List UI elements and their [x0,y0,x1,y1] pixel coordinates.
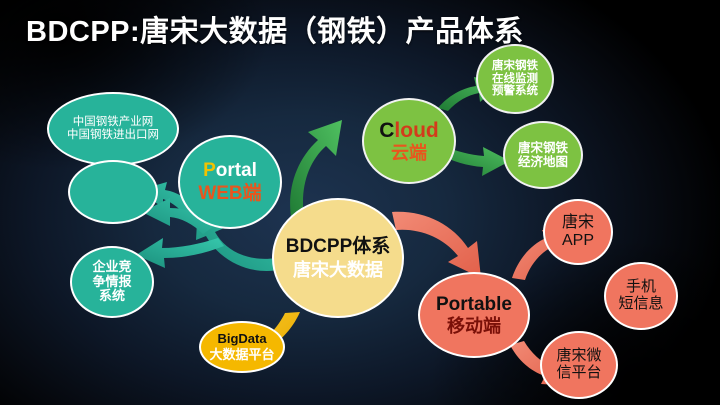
node-tangsong-wechat[interactable]: 唐宋微 信平台 [540,331,618,399]
node-steel-online-monitor[interactable]: 唐宋钢铁 在线监测 预警系统 [476,44,554,114]
node-mobile-sms[interactable]: 手机 短信息 [604,262,678,330]
node-portable-line1: Portable [436,294,512,315]
node-cloud1-line2: 在线监测 [492,73,538,86]
node-portal-line2: WEB端 [198,183,261,204]
node-steel-economic-map[interactable]: 唐宋钢铁 经济地图 [503,121,583,189]
node-portal-hub[interactable]: Portal WEB端 [178,135,282,229]
node-mob1-line2: APP [562,232,594,250]
node-web3-line3: 系统 [99,289,125,304]
arrow-center-to-portable [392,212,481,278]
node-cloud-line1: Cloud [379,119,439,143]
node-web3-line2: 争情报 [92,275,131,290]
node-web3-line1: 企业竞 [92,260,131,275]
node-web1-line1: 中国钢铁产业网 [73,116,154,129]
node-blank-node[interactable] [68,160,158,224]
node-portable-hub[interactable]: Portable 移动端 [418,272,530,358]
node-bigdata-line2: 大数据平台 [209,348,274,363]
arrow-portal-to-enterprise-intel [136,238,224,268]
node-center-line2: 唐宋大数据 [293,260,383,280]
node-enterprise-intel-system[interactable]: 企业竞 争情报 系统 [70,246,154,318]
node-center-bdcpp[interactable]: BDCPP体系 唐宋大数据 [272,198,404,318]
node-web1-line2: 中国钢铁进出口网 [67,129,159,142]
node-cloud-line2: 云端 [391,143,427,163]
node-portable-line2: 移动端 [447,316,501,336]
node-portal-line1: Portal [203,160,257,181]
node-cloud-initial: C [379,119,394,142]
node-cloud2-line2: 经济地图 [518,155,568,169]
node-cloud2-line1: 唐宋钢铁 [518,141,568,155]
node-center-line1: BDCPP体系 [286,236,391,257]
node-cloud-rest: loud [394,119,438,142]
node-mob1-line1: 唐宋 [562,214,594,232]
page-title: BDCPP:唐宋大数据（钢铁）产品体系 [26,8,524,50]
node-portal-initial: P [203,160,216,181]
node-portal-rest: ortal [216,160,257,181]
node-bigdata-line1: BigData [217,332,266,347]
node-mob3-line2: 信平台 [556,365,601,382]
node-china-steel-industry-net[interactable]: 中国钢铁产业网 中国钢铁进出口网 [47,92,179,166]
node-cloud-hub[interactable]: Cloud 云端 [362,98,456,184]
node-cloud1-line1: 唐宋钢铁 [492,60,538,73]
node-bigdata-platform[interactable]: BigData 大数据平台 [199,321,285,373]
node-mob2-line1: 手机 [626,279,656,296]
slide-canvas: BDCPP:唐宋大数据（钢铁）产品体系 [0,0,720,405]
node-mob2-line2: 短信息 [618,296,663,313]
node-tangsong-app[interactable]: 唐宋 APP [543,199,613,265]
node-cloud1-line3: 预警系统 [492,85,538,98]
node-mob3-line1: 唐宋微 [556,348,601,365]
